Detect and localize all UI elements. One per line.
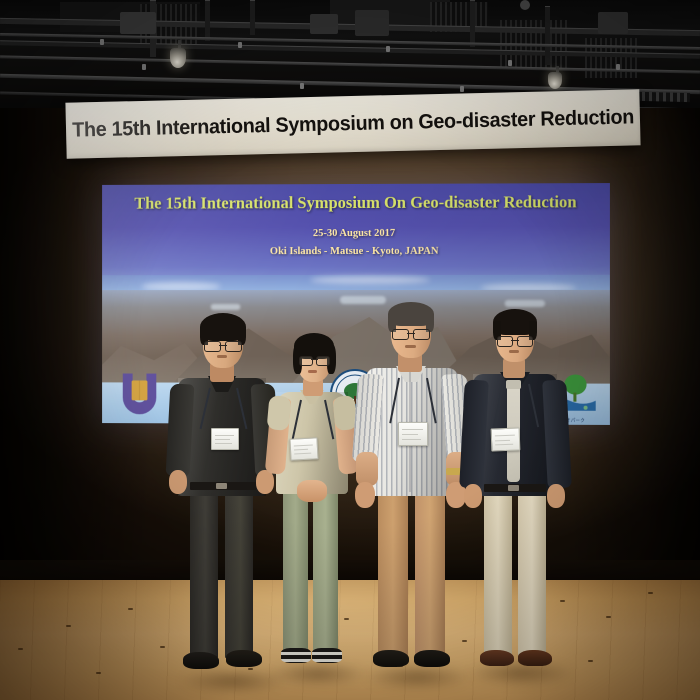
- person-3-leg-left: [378, 490, 408, 658]
- person-1-leg-right: [225, 488, 253, 658]
- person-2-glasses-icon: [298, 355, 331, 366]
- person-2-hands-clasped: [297, 480, 327, 502]
- person-1-glasses-icon: [203, 340, 243, 352]
- person-2-leg-right: [313, 486, 338, 654]
- person-4-hand-left: [464, 484, 482, 508]
- person-4-leg-left: [484, 490, 512, 658]
- person-4-leg-right: [518, 490, 546, 658]
- person-2-sandal-right: [312, 648, 342, 663]
- person-2-sandal-left: [281, 648, 311, 663]
- person-1-arm-left: [166, 383, 195, 476]
- person-1-belt-buckle: [216, 483, 227, 489]
- person-4-glasses-icon: [496, 335, 534, 347]
- person-3-leg-right: [415, 490, 445, 658]
- person-3-glasses-icon: [391, 328, 431, 340]
- photograph-scene: The 15th International Symposium on Geo-…: [0, 0, 700, 700]
- person-3-name-badge: [398, 422, 428, 446]
- person-1-shoe-left: [183, 652, 219, 669]
- person-4-shoe-right: [518, 650, 552, 666]
- stage-spotlight-icon: [548, 72, 562, 89]
- person-3-hand-left: [355, 482, 375, 508]
- person-2-name-badge: [289, 437, 318, 460]
- person-1-shoe-right: [226, 650, 262, 667]
- symposium-banner-text: The 15th International Symposium on Geo-…: [72, 105, 634, 142]
- person-4-name-badge: [491, 428, 521, 452]
- person-4-hand-right: [547, 484, 565, 508]
- person-1-leg-left: [190, 488, 218, 658]
- person-4-shoe-left: [480, 650, 514, 666]
- stage-spotlight-icon: [170, 48, 186, 68]
- person-3-shoe-left: [373, 650, 409, 667]
- person-3-shoe-right: [414, 650, 450, 667]
- person-1-hand-left: [169, 470, 187, 494]
- person-1-name-badge: [211, 428, 239, 450]
- person-4-belt-buckle: [508, 485, 519, 491]
- person-2-leg-left: [283, 486, 308, 654]
